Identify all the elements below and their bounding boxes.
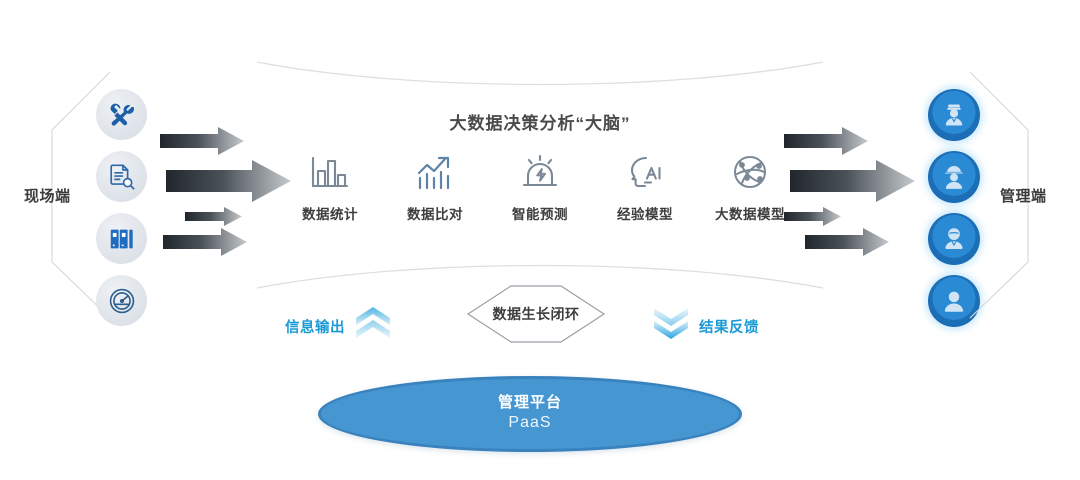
- flow-arrow-left-4: [163, 228, 247, 256]
- capability-label: 数据比对: [407, 203, 463, 223]
- worker-avatar-icon: [939, 162, 969, 192]
- left-end-label: 现场端: [24, 185, 71, 206]
- chevron-up-stack-icon: [354, 305, 392, 348]
- document-search-icon: [107, 162, 137, 192]
- flow-arrow-right-2: [790, 160, 915, 202]
- engineer-avatar-icon: [939, 224, 969, 254]
- flow-arrow-left-3: [185, 207, 242, 226]
- page-title-text: 大数据决策分析“大脑”: [450, 109, 631, 134]
- diagram-canvas: 现场端: [0, 0, 1080, 480]
- flow-information-output: 信息输出: [285, 305, 392, 348]
- panel-top-curve: [255, 58, 825, 97]
- capability-item-prediction[interactable]: 智能预测: [490, 150, 590, 223]
- right-end-label: 管理端: [1000, 185, 1047, 206]
- capability-item-statistics[interactable]: 数据统计: [280, 150, 380, 223]
- capability-label: 智能预测: [512, 203, 568, 223]
- management-platform-ellipse[interactable]: 管理平台 PaaS: [318, 376, 742, 452]
- ai-head-icon: [623, 150, 667, 196]
- officer-avatar-icon: [939, 100, 969, 130]
- trend-chart-icon: [413, 150, 457, 196]
- flow-label: 信息输出: [285, 316, 345, 337]
- flow-label: 结果反馈: [699, 316, 759, 337]
- source-icon-binders[interactable]: [96, 213, 147, 264]
- alarm-bolt-icon: [518, 150, 562, 196]
- hexagon-badge: 数据生长闭环: [466, 284, 606, 344]
- capability-row: 数据统计 数据比对: [280, 150, 800, 223]
- platform-name-zh: 管理平台: [498, 394, 562, 413]
- binders-icon: [107, 224, 137, 254]
- flow-arrow-right-4: [805, 228, 889, 256]
- flow-arrow-right-1: [784, 127, 868, 155]
- chevron-down-stack-icon: [652, 305, 690, 348]
- capability-label: 数据统计: [302, 203, 358, 223]
- capability-label: 经验模型: [617, 203, 673, 223]
- source-icon-document-search[interactable]: [96, 151, 147, 202]
- gauge-icon: [107, 286, 137, 316]
- capability-item-experience-model[interactable]: 经验模型: [595, 150, 695, 223]
- capability-label: 大数据模型: [715, 203, 785, 223]
- flow-arrow-left-2: [166, 160, 291, 202]
- network-globe-icon: [728, 150, 772, 196]
- person-avatar-icon: [939, 286, 969, 316]
- flow-arrow-right-3: [784, 207, 841, 226]
- capability-item-comparison[interactable]: 数据比对: [385, 150, 485, 223]
- platform-name-en: PaaS: [508, 413, 551, 434]
- hexagon-label: 数据生长闭环: [466, 284, 606, 344]
- page-title: 大数据决策分析“大脑”: [0, 109, 1080, 134]
- source-icon-gauge[interactable]: [96, 275, 147, 326]
- flow-result-feedback: 结果反馈: [652, 305, 759, 348]
- bar-chart-icon: [308, 150, 352, 196]
